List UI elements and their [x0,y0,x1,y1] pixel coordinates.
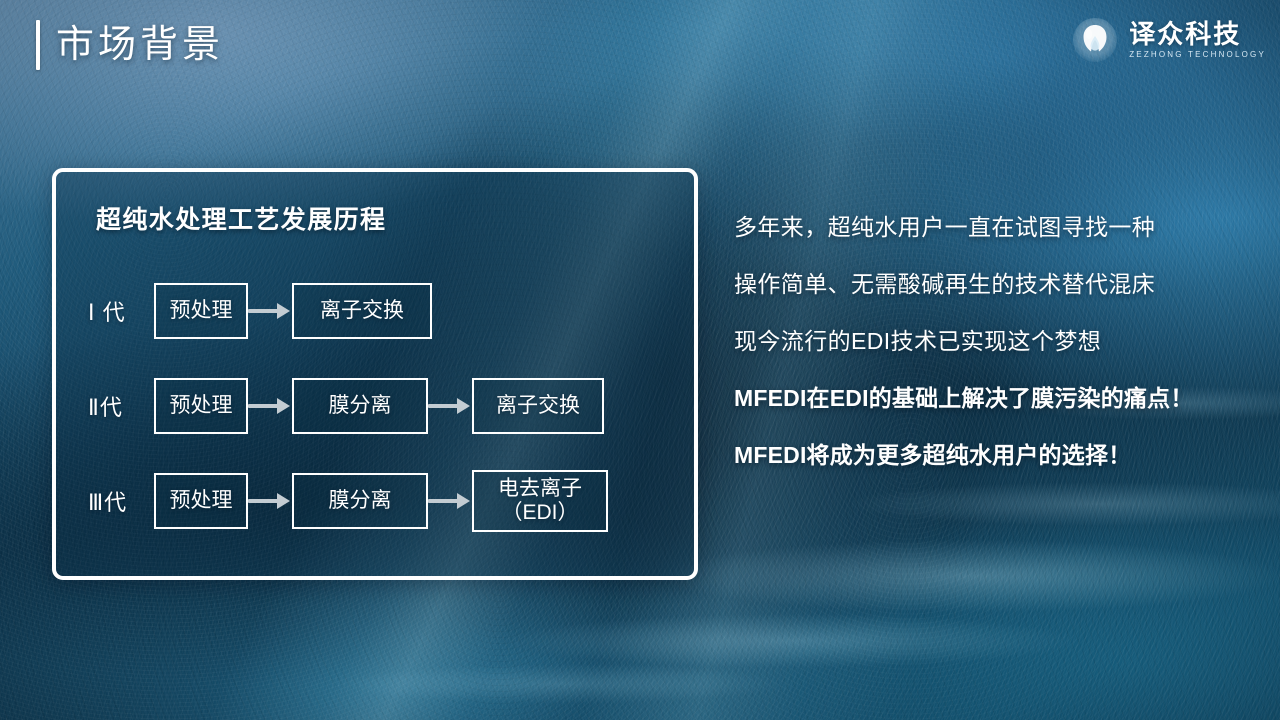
flow-node-edi-line2: （EDI） [498,501,582,525]
flow-arrow-icon [428,398,472,414]
flow-row-gen2: Ⅱ代 预处理 膜分离 离子交换 [88,371,672,441]
flow-arrow-icon [248,398,292,414]
flow-node-membrane-separation-2[interactable]: 膜分离 [292,378,428,434]
slide-header: 市场背景 [0,0,1280,96]
flow-node-pretreatment-1[interactable]: 预处理 [154,283,248,339]
body-text-line-4: MFEDI在EDI的基础上解决了膜污染的痛点！ [734,387,1264,410]
water-drop-logo-icon [1071,16,1119,64]
body-text-block: 多年来，超纯水用户一直在试图寻找一种 操作简单、无需酸碱再生的技术替代混床 现今… [734,216,1264,467]
logo-name-en: ZEZHONG TECHNOLOGY [1129,51,1266,59]
flow-node-pretreatment-2[interactable]: 预处理 [154,378,248,434]
flow-row-gen1: Ⅰ 代 预处理 离子交换 [88,276,672,346]
flow-node-ion-exchange-1[interactable]: 离子交换 [292,283,432,339]
page-title: 市场背景 [36,20,224,70]
body-text-line-3: 现今流行的EDI技术已实现这个梦想 [734,330,1264,353]
flow-node-edi-line1: 电去离子 [498,477,582,501]
generation-label-3: Ⅲ代 [88,485,154,517]
flow-node-edi[interactable]: 电去离子 （EDI） [472,470,608,532]
title-accent-bar [36,20,40,70]
flow-node-ion-exchange-2[interactable]: 离子交换 [472,378,604,434]
process-flow-diagram: Ⅰ 代 预处理 离子交换 Ⅱ代 预处理 膜分离 离子交换 [88,276,672,536]
logo-text-block: 译众科技 ZEZHONG TECHNOLOGY [1129,21,1266,59]
generation-label-2: Ⅱ代 [88,390,154,422]
company-logo: 译众科技 ZEZHONG TECHNOLOGY [1071,16,1266,64]
body-text-line-1: 多年来，超纯水用户一直在试图寻找一种 [734,216,1264,239]
flow-arrow-icon [248,493,292,509]
flow-arrow-icon [248,303,292,319]
slide-canvas: 市场背景 [0,0,1280,720]
flow-node-pretreatment-3[interactable]: 预处理 [154,473,248,529]
generation-label-1: Ⅰ 代 [88,295,154,327]
process-history-panel: 超纯水处理工艺发展历程 Ⅰ 代 预处理 离子交换 Ⅱ代 预处理 膜分离 [52,168,698,580]
flow-node-membrane-separation-3[interactable]: 膜分离 [292,473,428,529]
flow-arrow-icon [428,493,472,509]
flow-row-gen3: Ⅲ代 预处理 膜分离 电去离子 （EDI） [88,466,672,536]
panel-title: 超纯水处理工艺发展历程 [96,200,386,236]
body-text-line-2: 操作简单、无需酸碱再生的技术替代混床 [734,273,1264,296]
body-text-line-5: MFEDI将成为更多超纯水用户的选择！ [734,444,1264,467]
logo-name-cn: 译众科技 [1129,21,1266,47]
title-label: 市场背景 [56,26,224,64]
